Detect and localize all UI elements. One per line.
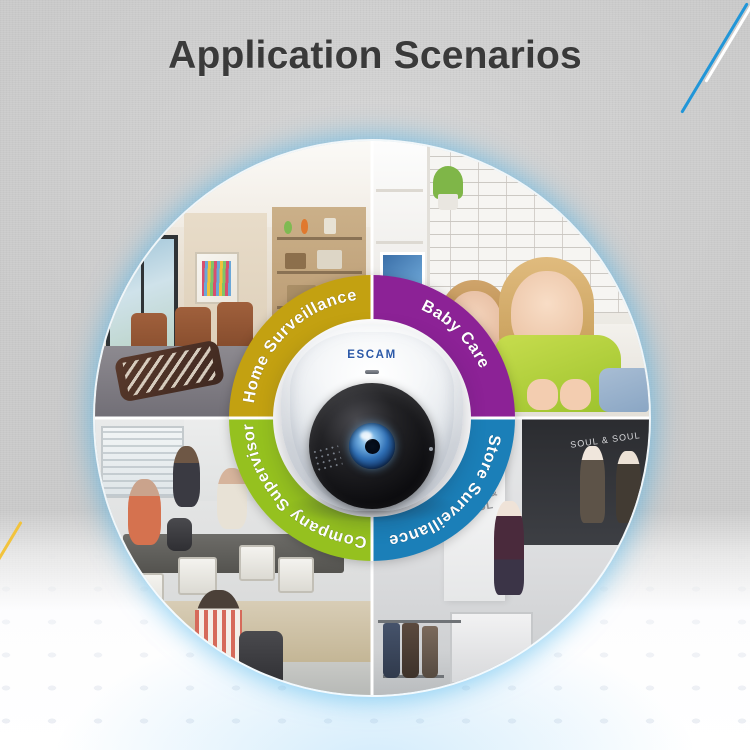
camera-lens-pupil (365, 439, 380, 454)
camera-led-strip-icon (365, 370, 379, 374)
camera-brand-label: ESCAM (281, 349, 463, 361)
promo-banner: Application Scenarios (0, 0, 750, 750)
page-title: Application Scenarios (0, 34, 750, 78)
camera-fisheye-lens-icon (349, 423, 395, 469)
camera-product-image: ESCAM (281, 325, 463, 511)
camera-microphone-icon (429, 447, 433, 451)
